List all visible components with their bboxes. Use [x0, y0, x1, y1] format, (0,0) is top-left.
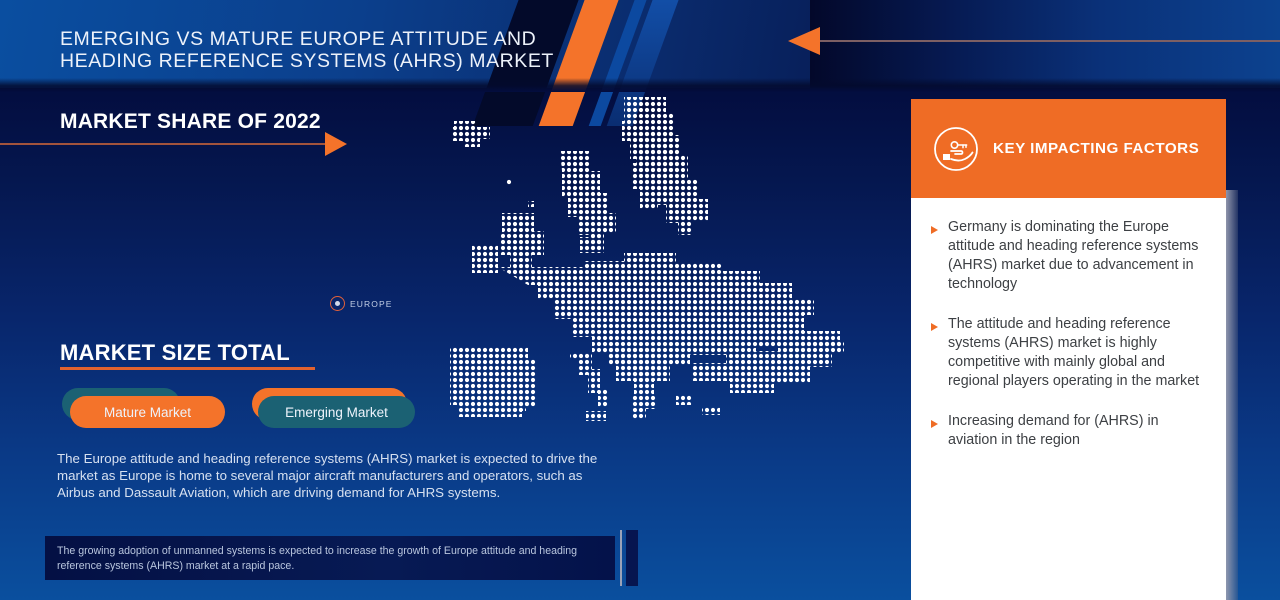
key-factors-header: KEY IMPACTING FACTORS	[911, 99, 1226, 198]
market-description: The Europe attitude and heading referenc…	[57, 450, 617, 501]
infographic-canvas: EMERGING VS MATURE EUROPE ATTITUDE AND H…	[0, 0, 1280, 600]
key-factors-card-shadow	[1226, 190, 1238, 600]
footer-banner: The growing adoption of unmanned systems…	[45, 536, 615, 580]
europe-legend-label: EUROPE	[350, 299, 393, 309]
arrow-right-icon	[325, 132, 347, 156]
market-share-rule	[0, 143, 325, 145]
europe-legend-marker: EUROPE	[330, 296, 393, 311]
mature-market-pill[interactable]: Mature Market	[70, 396, 225, 428]
header-right-gradient	[810, 0, 1280, 88]
location-target-icon	[330, 296, 345, 311]
market-size-rule	[60, 367, 315, 370]
list-item: Increasing demand for (AHRS) in aviation…	[931, 412, 1208, 450]
page-title-line-1: EMERGING VS MATURE EUROPE ATTITUDE AND	[60, 28, 580, 50]
emerging-market-label: Emerging Market	[285, 405, 388, 420]
list-item: Germany is dominating the Europe attitud…	[931, 218, 1208, 294]
emerging-market-pill[interactable]: Emerging Market	[258, 396, 415, 428]
list-item-text: The attitude and heading reference syste…	[948, 315, 1208, 391]
footer-banner-text: The growing adoption of unmanned systems…	[57, 544, 603, 574]
page-title-line-2: HEADING REFERENCE SYSTEMS (AHRS) MARKET	[60, 50, 580, 72]
bullet-triangle-icon	[931, 323, 938, 331]
footer-accent-strip	[626, 530, 638, 586]
market-share-label: MARKET SHARE OF 2022	[60, 110, 321, 134]
key-factors-card: KEY IMPACTING FACTORS Germany is dominat…	[911, 99, 1226, 600]
market-size-label: MARKET SIZE TOTAL	[60, 340, 290, 366]
key-factors-list: Germany is dominating the Europe attitud…	[911, 198, 1226, 471]
list-item-text: Germany is dominating the Europe attitud…	[948, 218, 1208, 294]
footer-divider-line	[620, 530, 622, 586]
hand-holding-key-icon	[933, 126, 979, 172]
bullet-triangle-icon	[931, 226, 938, 234]
mature-market-label: Mature Market	[104, 405, 191, 420]
bullet-triangle-icon	[931, 420, 938, 428]
page-title: EMERGING VS MATURE EUROPE ATTITUDE AND H…	[60, 28, 580, 72]
europe-dotted-map	[440, 95, 860, 445]
list-item: The attitude and heading reference syste…	[931, 315, 1208, 391]
market-size-legend: Mature Market Emerging Market	[62, 388, 482, 438]
key-factors-title: KEY IMPACTING FACTORS	[993, 140, 1199, 157]
list-item-text: Increasing demand for (AHRS) in aviation…	[948, 412, 1208, 450]
arrow-left-icon	[788, 27, 820, 55]
header-fade	[0, 78, 1280, 92]
market-share-heading: MARKET SHARE OF 2022	[0, 110, 360, 168]
header-arrow-line	[820, 40, 1280, 42]
